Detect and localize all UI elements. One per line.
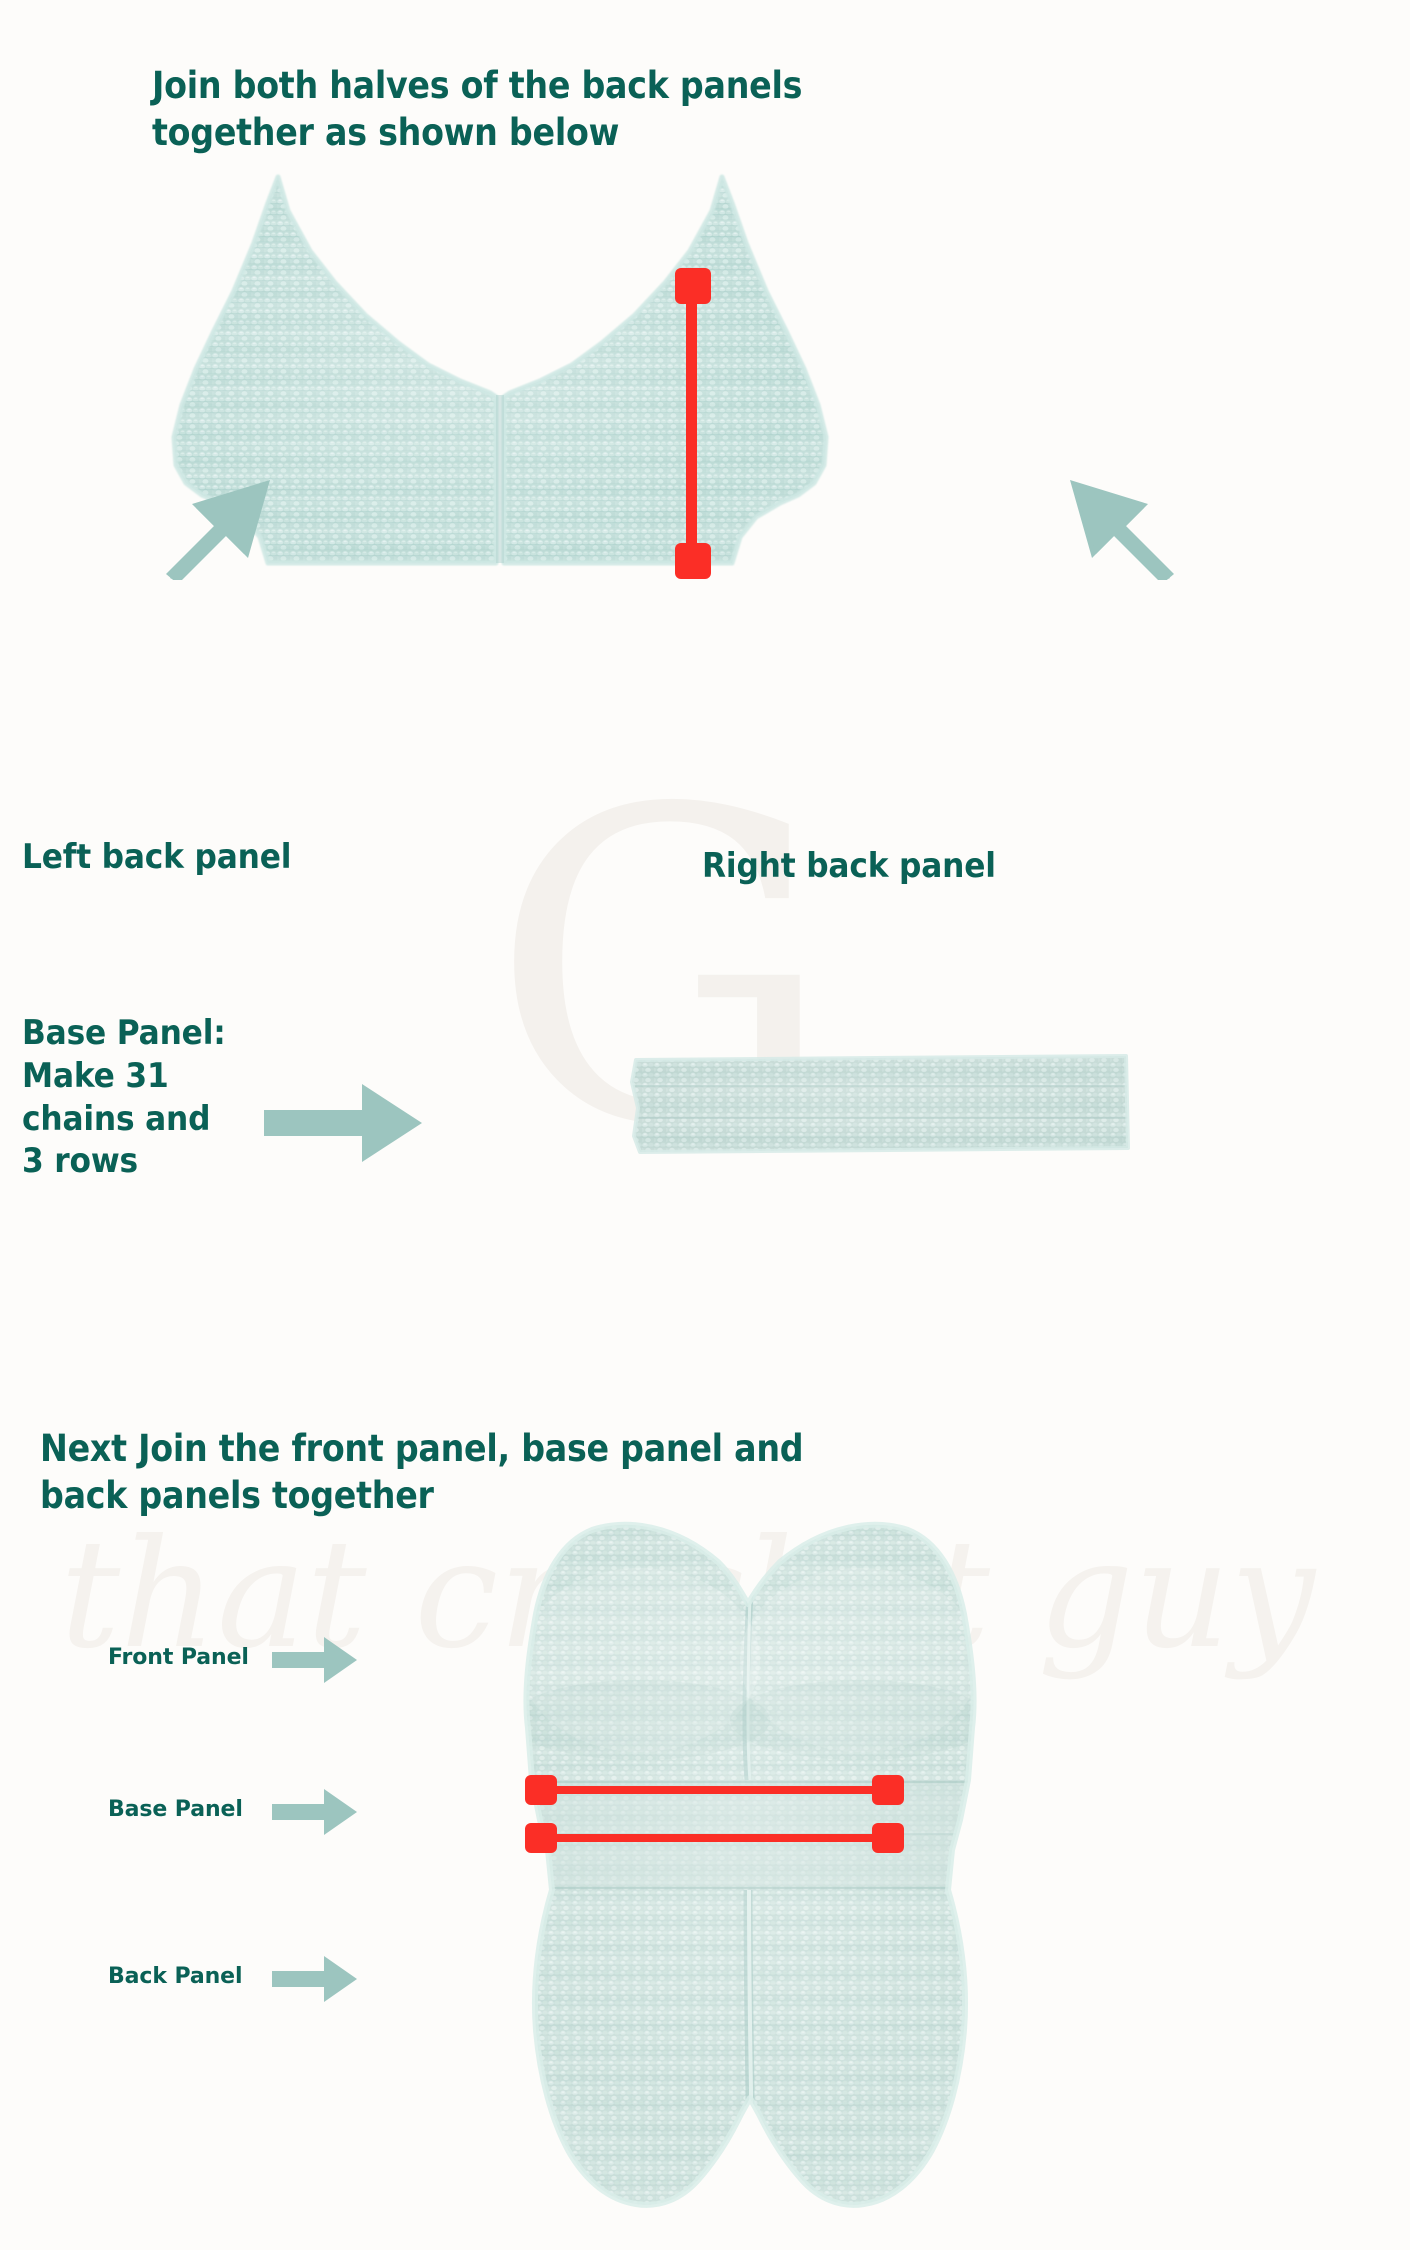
red-seam-cap-top	[675, 268, 711, 304]
assembled-garment-illustration	[440, 1490, 1060, 2250]
arrow-up-right-icon	[160, 470, 280, 585]
red-seam-line-vertical	[686, 278, 697, 568]
arrow-up-left-icon	[1060, 470, 1180, 585]
label-back-panel-small: Back Panel	[108, 1964, 242, 1989]
red-seam-cap-bottom-right	[872, 1823, 904, 1853]
label-base-panel-instructions: Base Panel: Make 31 chains and 3 rows	[22, 1012, 234, 1183]
arrow-right-icon-base-panel-small	[272, 1787, 358, 1842]
red-seam-cap-top-right	[872, 1775, 904, 1805]
assembled-garment-photo	[440, 1490, 1060, 2250]
red-seam-line-base-top	[540, 1786, 890, 1794]
heading-join-back-panels: Join both halves of the back panels toge…	[152, 62, 890, 157]
tutorial-page: G that crochet guy Join both halves of t…	[0, 0, 1410, 2250]
arrow-right-icon-base-panel	[264, 1078, 424, 1173]
base-panel-strip-photo	[630, 1052, 1130, 1160]
red-seam-cap-bottom-left	[525, 1823, 557, 1853]
label-front-panel: Front Panel	[108, 1645, 249, 1670]
heading-join-all-panels: Next Join the front panel, base panel an…	[40, 1425, 850, 1520]
label-left-back-panel: Left back panel	[22, 836, 291, 879]
base-panel-illustration	[630, 1052, 1130, 1160]
red-seam-cap-top-left	[525, 1775, 557, 1805]
arrow-right-icon-front-panel	[272, 1635, 358, 1690]
arrow-right-icon-back-panel	[272, 1954, 358, 2009]
red-seam-line-base-bottom	[540, 1834, 890, 1842]
label-base-panel-small: Base Panel	[108, 1797, 243, 1822]
label-right-back-panel: Right back panel	[702, 845, 996, 888]
red-seam-cap-bottom	[675, 543, 711, 579]
center-seam-shadow	[496, 395, 504, 563]
